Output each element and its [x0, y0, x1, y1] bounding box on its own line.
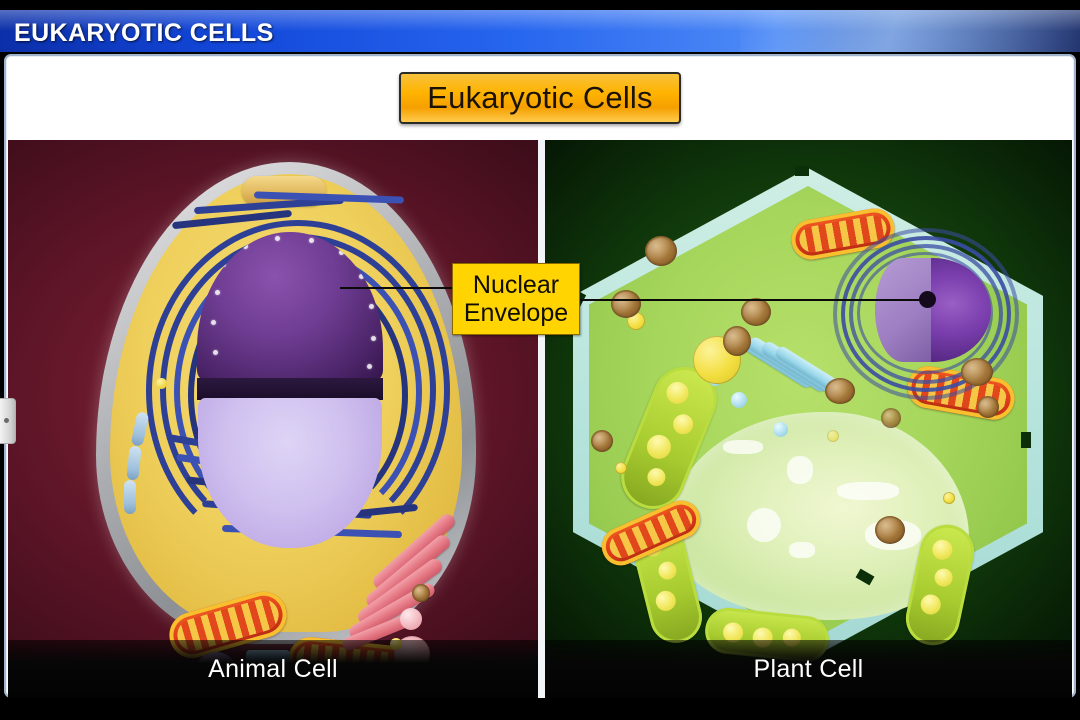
granum — [931, 538, 955, 562]
ribosome-cluster — [961, 358, 993, 386]
nuclear-envelope-callout: Nuclear Envelope — [452, 263, 580, 335]
vesicle — [943, 492, 955, 504]
animal-cell-caption: Animal Cell — [8, 640, 538, 698]
plant-cell-panel: Plant Cell — [545, 140, 1072, 698]
ribosome-cluster — [591, 430, 613, 452]
nuclear-pore — [367, 364, 372, 369]
filament-segment — [126, 445, 141, 480]
filament-segment — [131, 411, 150, 447]
panel-divider — [538, 140, 545, 698]
handle-dot-icon — [4, 418, 9, 423]
slide-title-text: Eukaryotic Cells — [427, 80, 652, 116]
nuclear-pore — [211, 320, 216, 325]
nuclear-pore — [275, 236, 280, 241]
ribosome-cluster — [825, 378, 855, 404]
vacuole-highlight — [837, 482, 899, 500]
ribosome-cluster — [412, 584, 430, 602]
vesicle — [156, 378, 167, 389]
nuclear-pore — [309, 238, 314, 243]
granum — [654, 589, 678, 613]
vacuole-highlight — [787, 456, 813, 484]
leader-line-animal — [340, 287, 454, 289]
granum — [933, 567, 954, 588]
ribosome-cluster — [875, 516, 905, 544]
wall-gap — [1021, 432, 1031, 448]
nuclear-pore — [359, 274, 364, 279]
granum — [645, 465, 668, 488]
vacuole-highlight — [723, 440, 763, 454]
ribosome-cluster — [723, 326, 751, 356]
top-letterbox — [0, 0, 1080, 10]
nuclear-pore — [371, 336, 376, 341]
golgi-vesicle — [731, 392, 747, 408]
ribosome-cluster — [977, 396, 999, 418]
animal-cell-diagram: Animal Cell — [8, 140, 538, 698]
plant-cell-diagram: Plant Cell — [545, 140, 1072, 698]
left-edge-handle[interactable] — [0, 398, 16, 444]
plant-cell-caption: Plant Cell — [545, 640, 1072, 698]
slide-screen: EUKARYOTIC CELLS Eukaryotic Cells — [0, 0, 1080, 720]
nuclear-envelope — [197, 378, 383, 400]
bottom-letterbox — [0, 698, 1080, 720]
vacuole-highlight — [747, 508, 781, 542]
vesicle — [827, 430, 839, 442]
callout-line-1: Nuclear — [473, 271, 559, 299]
nuclear-pore — [221, 262, 226, 267]
ribosome-cluster — [881, 408, 901, 428]
header-glare — [740, 10, 1080, 52]
nuclear-pore — [213, 350, 218, 355]
filament-segment — [124, 480, 136, 514]
ribosome-cluster — [611, 290, 641, 318]
animal-cell-panel: Animal Cell — [8, 140, 538, 698]
slide-title-box: Eukaryotic Cells — [399, 72, 681, 124]
ribosome-cluster — [645, 236, 677, 266]
nuclear-pore — [339, 250, 344, 255]
app-header-bar: EUKARYOTIC CELLS — [0, 10, 1080, 52]
wall-gap — [795, 166, 809, 176]
nuclear-pore — [215, 290, 220, 295]
vacuole-highlight — [789, 542, 815, 558]
golgi-vesicle — [773, 422, 788, 437]
header-title: EUKARYOTIC CELLS — [14, 19, 274, 48]
nuclear-pore — [369, 304, 374, 309]
nucleolus-marker — [919, 291, 936, 308]
nucleus-cut-face — [875, 258, 931, 362]
granum — [919, 593, 943, 617]
leader-line-plant — [578, 299, 928, 301]
animal-cell-caption-text: Animal Cell — [208, 655, 338, 684]
granum — [657, 560, 679, 582]
golgi-vesicle — [400, 608, 422, 630]
vesicle — [615, 462, 627, 474]
nuclear-pore — [243, 244, 248, 249]
cytoskeleton — [120, 412, 162, 532]
ribosome-cluster — [741, 298, 771, 326]
callout-line-2: Envelope — [464, 299, 568, 327]
plant-cell-caption-text: Plant Cell — [754, 655, 864, 684]
